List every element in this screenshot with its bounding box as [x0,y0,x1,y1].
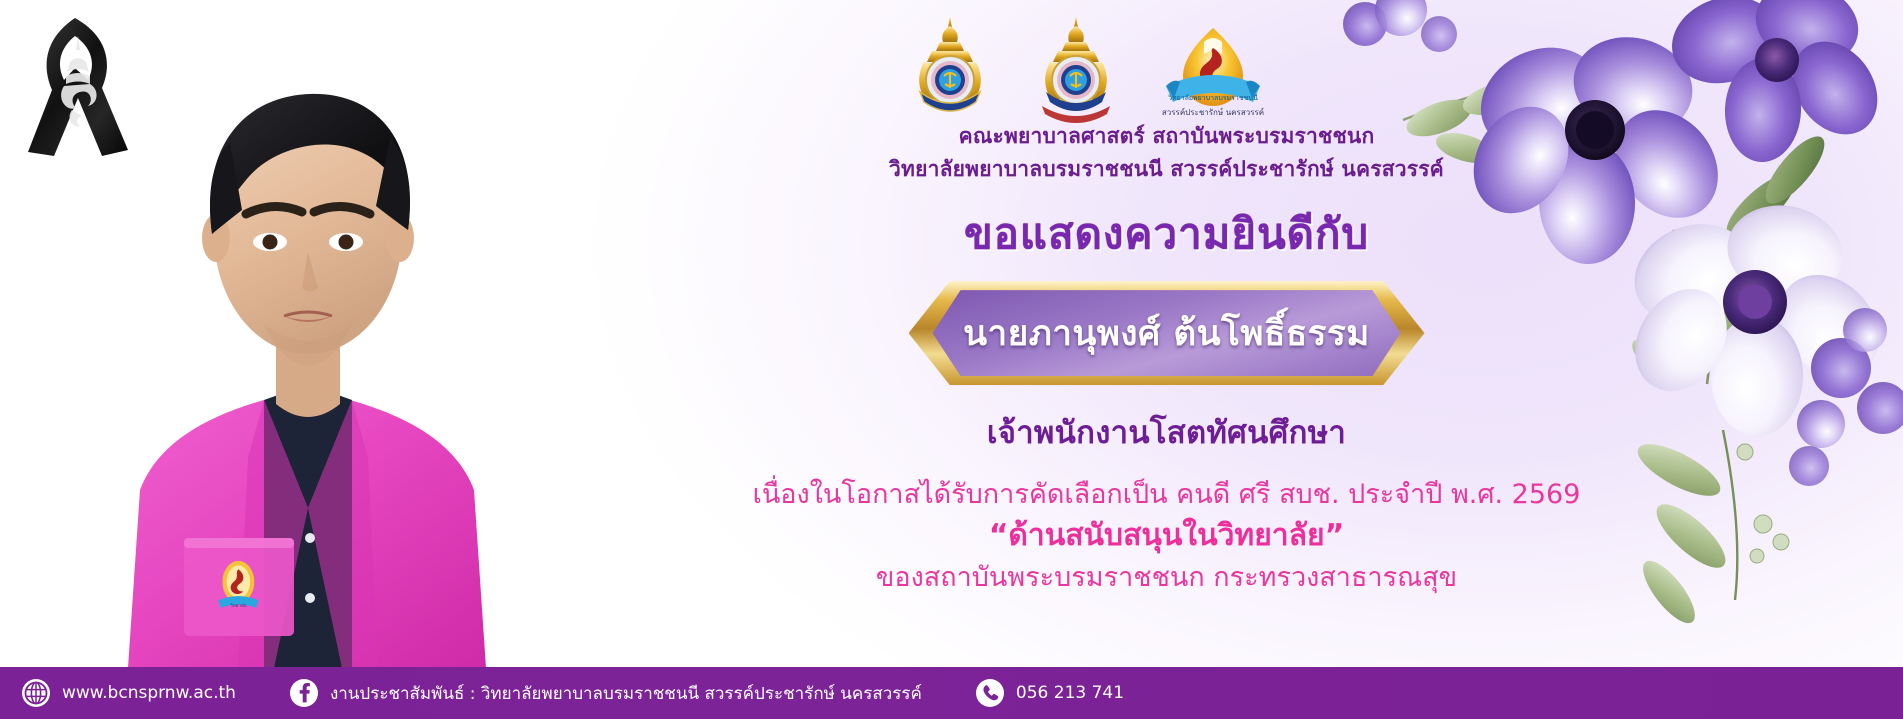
nameplate-inner: นายภานุพงศ์ ต้นโพธิ์ธรรม [933,290,1401,376]
logo-faculty-of-nursing [1028,14,1124,131]
award-line-1: เนื่องในโอกาสได้รับการคัดเลือกเป็น คนดี … [640,475,1693,514]
footer-facebook[interactable]: งานประชาสัมพันธ์ : วิทยาลัยพยาบาลบรมราชช… [290,679,922,707]
footer-bar: www.bcnsprnw.ac.th งานประชาสัมพันธ์ : วิ… [0,667,1903,719]
header-logos: วิทยาลัยพยาบาลบรมราชชนนี สวรรค์ประชารักษ… [0,14,1903,124]
eye-right [339,235,354,250]
award-line-2: “ด้านสนับสนุนในวิทยาลัย” [640,514,1693,558]
congratulations-heading: ขอแสดงความยินดีกับ [640,201,1693,267]
shirt-button [305,593,315,603]
svg-text:วิทยาลัย: วิทยาลัย [230,603,247,609]
blazer-pocket: วิทยาลัย [184,538,294,636]
honoree-name: นายภานุพงศ์ ต้นโพธิ์ธรรม [963,306,1370,361]
website-text: www.bcnsprnw.ac.th [62,683,236,703]
logo-praboromarajchanok-institute [902,14,998,131]
nameplate: นายภานุพงศ์ ต้นโพธิ์ธรรม [909,281,1425,385]
org-line-1: คณะพยาบาลศาสตร์ สถาบันพระบรมราชชนก [640,120,1693,153]
logo-bcnsprnw-college: วิทยาลัยพยาบาลบรมราชชนนี สวรรค์ประชารักษ… [1154,14,1272,131]
shirt-button [305,533,315,543]
phone-text: 056 213 741 [1016,683,1124,703]
content-block: คณะพยาบาลศาสตร์ สถาบันพระบรมราชชนก วิทยา… [640,120,1693,597]
phone-icon [976,679,1004,707]
globe-icon [22,679,50,707]
svg-text:วิทยาลัยพยาบาลบรมราชชนนี: วิทยาลัยพยาบาลบรมราชชนนี [1168,94,1258,102]
small-flower-cluster-bottom [1789,308,1903,486]
award-line-3: ของสถาบันพระบรมราชชนก กระทรวงสาธารณสุข [640,558,1693,597]
portrait-illustration: วิทยาลัย [88,38,528,668]
footer-phone[interactable]: 056 213 741 [976,679,1124,707]
facebook-icon [290,679,318,707]
svg-text:สวรรค์ประชารักษ์ นครสวรรค์: สวรรค์ประชารักษ์ นครสวรรค์ [1161,107,1263,117]
job-title: เจ้าพนักงานโสตทัศนศึกษา [640,407,1693,457]
facebook-text: งานประชาสัมพันธ์ : วิทยาลัยพยาบาลบรมราชช… [330,680,922,707]
congratulation-banner: วิทยาลัย [0,0,1903,719]
footer-website[interactable]: www.bcnsprnw.ac.th [22,679,236,707]
eye-left [263,235,278,250]
org-line-2: วิทยาลัยพยาบาลบรมราชชนนี สวรรค์ประชารักษ… [640,153,1693,186]
honoree-portrait: วิทยาลัย [88,38,528,668]
